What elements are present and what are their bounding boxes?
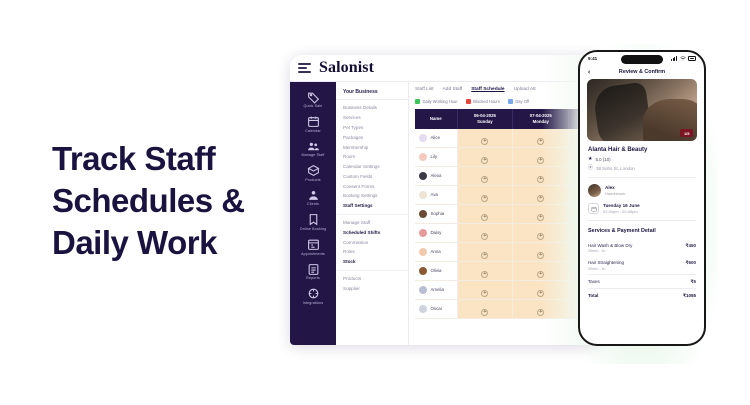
submenu-item-packages[interactable]: Packages [336, 132, 408, 142]
submenu-item-membership[interactable]: Membership [336, 142, 408, 152]
header-day: Monday [533, 119, 549, 124]
add-shift-button[interactable]: + [537, 290, 544, 297]
schedule-cell[interactable]: + [457, 204, 513, 223]
business-rating-row: ★ 5.0 (10) [588, 157, 696, 162]
calendar-icon [588, 203, 599, 214]
service-duration: 30min - 1h [588, 249, 632, 253]
header-day: Sunday [477, 119, 493, 124]
add-shift-button[interactable]: + [481, 290, 488, 297]
sidebar-label: Calendar [305, 130, 321, 134]
schedule-cell[interactable]: + [457, 261, 513, 280]
phone-content: Alanta Hair & Beauty ★ 5.0 (10) ⦿ 38 Soh… [580, 141, 704, 302]
schedule-cell[interactable]: + [457, 129, 513, 148]
phone-header: ‹ Review & Confirm [580, 65, 704, 79]
rating-value: 5.0 (10) [595, 157, 610, 162]
staff-name: Oscar [431, 306, 443, 311]
submenu-item-booking-settings[interactable]: Booking Settings [336, 191, 408, 201]
schedule-cell[interactable]: + [513, 242, 569, 261]
staff-name: Alice [431, 135, 441, 140]
phone-mockup: 9:41 ‹ Review & Confirm 1/5 Alanta Hair … [578, 50, 706, 346]
avatar [419, 172, 427, 180]
sidebar-item-manage-staff[interactable]: Manage Staff [290, 136, 336, 160]
staff-name-cell: Alexa [415, 166, 457, 185]
sidebar-label: Online Booking [300, 228, 326, 232]
schedule-cell[interactable]: + [513, 299, 569, 318]
staff-name: Alex [605, 185, 626, 190]
legend-swatch-blue [508, 99, 513, 104]
users-icon [306, 139, 320, 153]
staff-role: Hairdresser [605, 191, 626, 196]
sidebar-label: Manage Staff [301, 154, 324, 158]
submenu-group-staff: Manage Staff Scheduled Shifts Commission… [336, 215, 408, 271]
add-shift-button[interactable]: + [481, 176, 488, 183]
add-shift-button[interactable]: + [537, 176, 544, 183]
add-shift-button[interactable]: + [481, 157, 488, 164]
signal-icon [671, 56, 677, 61]
sidebar-label: Products [305, 179, 320, 183]
submenu-item-business-details[interactable]: Business Details [336, 103, 408, 113]
schedule-cell[interactable]: + [457, 280, 513, 299]
submenu-item-products[interactable]: Products [336, 274, 408, 284]
staff-name-cell: Daisy [415, 223, 457, 242]
avatar [419, 210, 427, 218]
column-header-name: Name [415, 109, 457, 129]
dashboard-topbar: Salonist [290, 55, 600, 82]
page-headline: Track Staff Schedules & Daily Work [52, 138, 322, 265]
schedule-cell[interactable]: + [457, 166, 513, 185]
add-shift-button[interactable]: + [481, 233, 488, 240]
legend-swatch-green [415, 99, 420, 104]
sidebar-label: Quick Sale [304, 105, 323, 109]
submenu-item-pet-types[interactable]: Pet Types [336, 123, 408, 133]
tab-upload-attendance[interactable]: Upload Att [514, 87, 536, 92]
add-shift-button[interactable]: + [481, 195, 488, 202]
battery-icon [688, 56, 696, 60]
taxes-label: Taxes [588, 279, 600, 284]
plug-icon [306, 287, 320, 301]
avatar [588, 184, 601, 197]
avatar [419, 286, 427, 294]
service-amount: ₹600 [686, 260, 696, 266]
add-shift-button[interactable]: + [537, 157, 544, 164]
staff-name-cell: Amelia [415, 280, 457, 299]
staff-name: Sophia [431, 211, 445, 216]
hamburger-icon[interactable] [298, 63, 311, 73]
bookmark-icon [306, 213, 320, 227]
submenu-item-custom-fields[interactable]: Custom Fields [336, 171, 408, 181]
staff-name: Amelia [431, 287, 444, 292]
staff-name: Anna [431, 249, 441, 254]
submenu-item-scheduled-shifts[interactable]: Scheduled Shifts [336, 227, 408, 237]
sidebar-item-calendar[interactable]: Calendar [290, 112, 336, 136]
sidebar-item-clients[interactable]: Clients [290, 185, 336, 209]
schedule-cell[interactable]: + [513, 129, 569, 148]
submenu-item-calendar-settings[interactable]: Calendar Settings [336, 162, 408, 172]
schedule-cell[interactable]: + [457, 242, 513, 261]
service-amount: ₹450 [686, 243, 696, 249]
add-shift-button[interactable]: + [481, 214, 488, 221]
schedule-cell[interactable]: + [513, 147, 569, 166]
avatar [419, 248, 427, 256]
legend-swatch-red [466, 99, 471, 104]
address-value: 38 Soho St, London [596, 166, 635, 171]
staff-name: Alexa [431, 173, 442, 178]
tab-add-staff[interactable]: Add Staff [443, 87, 463, 92]
service-name: Hair Straightening [588, 260, 624, 265]
dashboard-mockup: Salonist Quick Sale Calendar Manage Staf… [290, 55, 600, 345]
divider [588, 220, 696, 221]
avatar [419, 229, 427, 237]
business-name: Alanta Hair & Beauty [588, 147, 696, 153]
total-row: Total ₹1055 [588, 289, 696, 302]
add-shift-button[interactable]: + [537, 214, 544, 221]
schedule-cell[interactable]: + [457, 223, 513, 242]
avatar [419, 153, 427, 161]
submenu-item-manage-staff[interactable]: Manage Staff [336, 218, 408, 228]
submenu-item-room[interactable]: Room [336, 152, 408, 162]
taxes-amount: ₹5 [691, 279, 696, 285]
schedule-cell[interactable]: + [513, 223, 569, 242]
avatar [419, 305, 427, 313]
submenu-item-supplier[interactable]: Supplier [336, 283, 408, 293]
sidebar-label: Clients [307, 203, 319, 207]
schedule-cell[interactable]: + [513, 185, 569, 204]
add-shift-button[interactable]: + [537, 233, 544, 240]
sidebar-item-online-booking[interactable]: Online Booking [290, 210, 336, 234]
column-header-date-1[interactable]: 06-04-2025 Sunday [457, 109, 513, 129]
column-header-date-2[interactable]: 07-04-2025 Monday [513, 109, 569, 129]
legend-label: Blocked Hours [473, 99, 500, 104]
payment-item: Hair Straightening 30min - 1h ₹600 [588, 257, 696, 275]
assigned-staff: Alex Hairdresser [588, 184, 696, 197]
staff-name-cell: Ava [415, 185, 457, 204]
dynamic-island [621, 55, 663, 65]
sidebar-item-integrations[interactable]: Integrations [290, 284, 336, 308]
image-counter-badge: 1/5 [680, 129, 693, 137]
sidebar-label: Reports [306, 277, 320, 281]
header-date: 06-04-2025 [474, 113, 496, 118]
schedule-cell[interactable]: + [513, 166, 569, 185]
location-pin-icon: ⦿ [588, 166, 593, 171]
add-shift-button[interactable]: + [537, 252, 544, 259]
sidebar-label: Integrations [303, 302, 324, 306]
add-shift-button[interactable]: + [537, 195, 544, 202]
schedule-cell[interactable]: + [513, 261, 569, 280]
payment-section-title: Services & Payment Detail [588, 228, 696, 234]
taxes-row: Taxes ₹5 [588, 275, 696, 288]
staff-name: Olivia [431, 268, 442, 273]
phone-page-title: Review & Confirm [580, 69, 704, 75]
hero-image: 1/5 [587, 79, 697, 141]
submenu-item-commission[interactable]: Commission [336, 237, 408, 247]
schedule-cell[interactable]: + [457, 147, 513, 166]
status-bar: 9:41 [580, 52, 704, 65]
schedule-cell[interactable]: + [513, 204, 569, 223]
tab-staff-schedule[interactable]: Staff Schedule [471, 87, 504, 92]
avatar [419, 134, 427, 142]
business-address-row: ⦿ 38 Soho St, London [588, 166, 696, 171]
submenu-item-roles[interactable]: Roles [336, 247, 408, 257]
add-shift-button[interactable]: + [481, 271, 488, 278]
sidebar-item-reports[interactable]: Reports [290, 259, 336, 283]
wifi-icon [680, 56, 686, 62]
header-date: 07-04-2025 [530, 113, 552, 118]
legend-label: Day Off [515, 99, 529, 104]
submenu-item-consent-forms[interactable]: Consent Forms [336, 181, 408, 191]
submenu-item-services[interactable]: Services [336, 113, 408, 123]
tag-icon [306, 90, 320, 104]
booking-datetime: Tuesday 16 June 02:30pm - 02:45pm [588, 203, 696, 214]
star-icon: ★ [588, 157, 592, 162]
status-indicators [671, 56, 696, 62]
add-shift-button[interactable]: + [537, 138, 544, 145]
add-shift-button[interactable]: + [537, 309, 544, 316]
booking-date: Tuesday 16 June [603, 203, 640, 208]
avatar [419, 191, 427, 199]
booking-time: 02:30pm - 02:45pm [603, 209, 640, 214]
staff-name-cell: Sophia [415, 204, 457, 223]
client-icon [306, 188, 320, 202]
legend-daily-working-hour: Daily Working Hour [415, 99, 458, 104]
submenu-item-staff-settings[interactable]: Staff Settings [336, 201, 408, 211]
appointment-icon [306, 238, 320, 252]
report-icon [306, 262, 320, 276]
box-icon [306, 164, 320, 178]
sidebar-item-quick-sale[interactable]: Quick Sale [290, 87, 336, 111]
service-name: Hair Wash & Blow Dry [588, 243, 632, 248]
secondary-menu: Your Business Business Details Services … [336, 82, 409, 345]
divider [588, 177, 696, 178]
submenu-group-inventory: Products Supplier [336, 271, 408, 297]
schedule-cell[interactable]: + [513, 280, 569, 299]
sidebar-item-products[interactable]: Products [290, 161, 336, 185]
staff-name: Ava [431, 192, 439, 197]
add-shift-button[interactable]: + [481, 309, 488, 316]
add-shift-button[interactable]: + [537, 271, 544, 278]
staff-name: Lily [431, 154, 438, 159]
legend-label: Daily Working Hour [423, 99, 458, 104]
add-shift-button[interactable]: + [481, 138, 488, 145]
calendar-icon [306, 115, 320, 129]
total-amount: ₹1055 [683, 293, 696, 299]
avatar [419, 267, 427, 275]
schedule-cell[interactable]: + [457, 299, 513, 318]
staff-name-cell: Olivia [415, 261, 457, 280]
brand-logo: Salonist [319, 59, 374, 77]
payment-item: Hair Wash & Blow Dry 30min - 1h ₹450 [588, 239, 696, 257]
legend-day-off: Day Off [508, 99, 529, 104]
status-time: 9:41 [588, 56, 597, 61]
total-label: Total [588, 293, 598, 298]
schedule-cell[interactable]: + [457, 185, 513, 204]
sidebar-item-appointments[interactable]: Appointments [290, 235, 336, 259]
submenu-heading: Your Business [336, 86, 408, 100]
staff-name-cell: Anna [415, 242, 457, 261]
tab-staff-list[interactable]: Staff List [415, 87, 434, 92]
staff-name-cell: Alice [415, 129, 457, 148]
staff-name-cell: Lily [415, 147, 457, 166]
add-shift-button[interactable]: + [481, 252, 488, 259]
submenu-item-stock[interactable]: Stock [336, 257, 408, 267]
service-duration: 30min - 1h [588, 267, 624, 271]
staff-name-cell: Oscar [415, 299, 457, 318]
sidebar-rail: Quick Sale Calendar Manage Staff Product… [290, 82, 336, 345]
staff-name: Daisy [431, 230, 442, 235]
sidebar-label: Appointments [301, 253, 325, 257]
legend-blocked-hours: Blocked Hours [466, 99, 500, 104]
submenu-group-business: Business Details Services Pet Types Pack… [336, 100, 408, 215]
